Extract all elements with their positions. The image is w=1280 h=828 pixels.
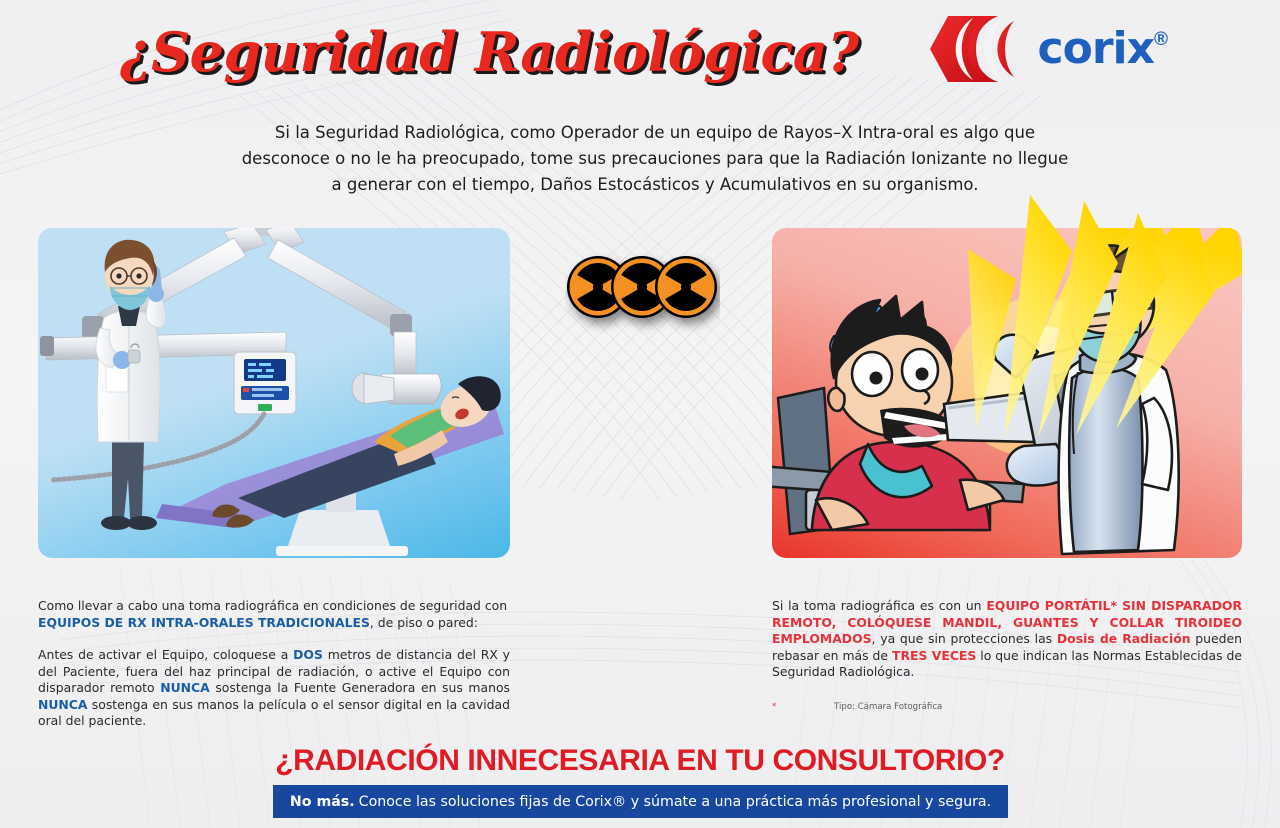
footnote-text: Tipo: Cámara Fotográfica [834,702,942,712]
copy-left-p1-highlight: EQUIPOS DE RX INTRA-ORALES TRADICIONALES [38,615,370,630]
copy-right-paragraph: Si la toma radiográfica es con un EQUIPO… [772,598,1242,681]
illustration-traditional-xray [38,228,510,558]
banner-cta-bar[interactable]: No más.Conoce las soluciones fijas de Co… [273,785,1008,818]
copy-left-p2-a: Antes de activar el Equipo, coloquese a [38,647,293,662]
intro-line-1: Si la Seguridad Radiológica, como Operad… [240,120,1070,146]
corix-logo[interactable]: corix ® [928,12,1168,86]
corix-mark-icon [928,12,1034,86]
page-title: ¿Seguridad Radiológica? [120,20,859,84]
xray-control-panel [52,352,296,480]
copy-left-p2-g: sostenga en sus manos la película o el s… [38,697,510,729]
footnote: *Tipo: Cámara Fotográfica [772,702,942,712]
copy-left-p1-c: , de piso o pared: [370,615,478,630]
banner-cta-bold: No más. [290,794,355,810]
copy-left-p2-nunca-2: NUNCA [38,697,87,712]
footnote-marker: * [772,702,834,712]
copy-right-a: Si la toma radiográfica es con un [772,598,986,613]
copy-block-left: Como llevar a cabo una toma radiográfica… [38,598,510,730]
copy-left-p2-dos: DOS [293,647,323,662]
intro-paragraph: Si la Seguridad Radiológica, como Operad… [240,120,1070,198]
copy-left-p2-e: sostenga la Fuente Generadora en sus man… [210,680,510,695]
copy-left-p2-nunca-1: NUNCA [160,680,209,695]
copy-left-paragraph-1: Como llevar a cabo una toma radiográfica… [38,598,510,631]
dental-chair-patient [156,376,504,556]
copy-block-right: Si la toma radiográfica es con un EQUIPO… [772,598,1242,681]
intro-line-3: a generar con el tiempo, Daños Estocásti… [240,172,1070,198]
illustration-portable-xray [772,228,1242,558]
intro-line-2: desconoce o no le ha preocupado, tome su… [240,146,1070,172]
corix-wordmark: corix [1038,27,1154,71]
operator-figure [96,240,166,530]
banner-cta-rest: Conoce las soluciones fijas de Corix® y … [359,794,991,810]
copy-right-dosis-highlight: Dosis de Radiación [1057,631,1191,646]
copy-right-tresveces-highlight: TRES VECES [892,648,976,663]
copy-left-paragraph-2: Antes de activar el Equipo, coloquese a … [38,647,510,730]
radiation-trefoil-icons [565,247,720,342]
registered-mark: ® [1154,29,1168,51]
copy-right-c: , ya que sin protecciones las [872,631,1057,646]
copy-left-p1-a: Como llevar a cabo una toma radiográfica… [38,598,507,613]
banner-headline: ¿RADIACIÓN INNECESARIA EN TU CONSULTORIO… [0,744,1280,778]
